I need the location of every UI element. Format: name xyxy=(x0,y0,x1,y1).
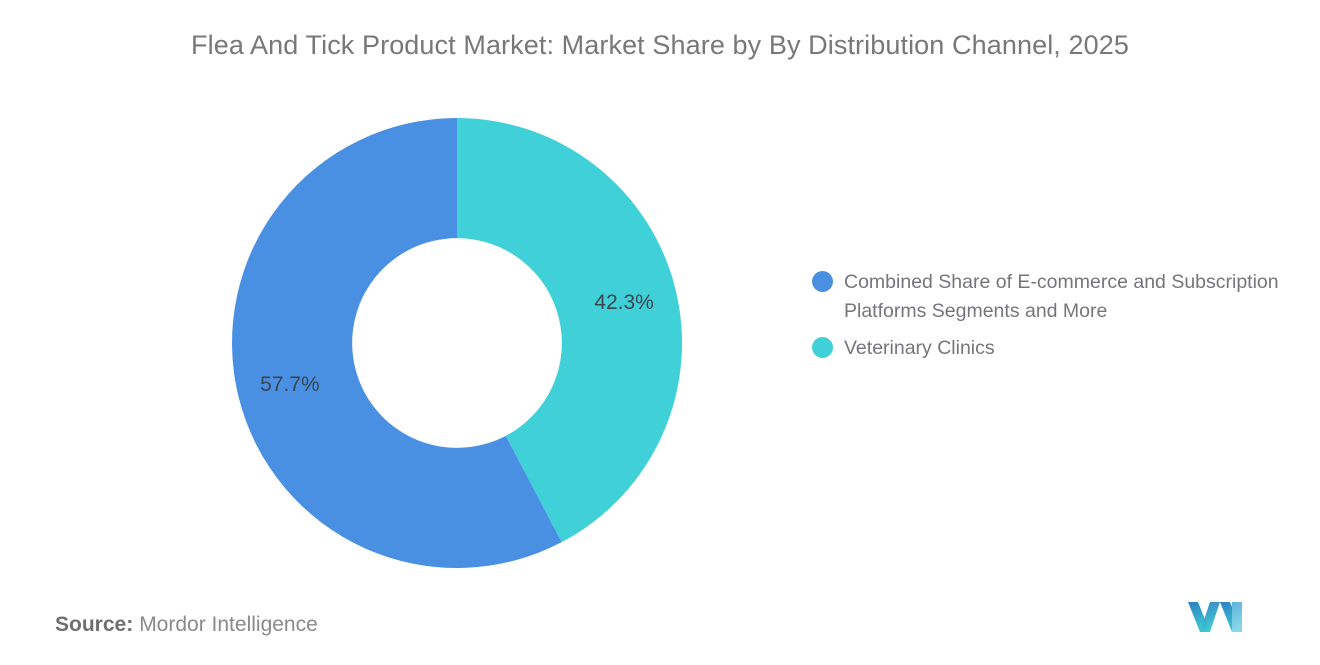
donut-chart: 57.7% 42.3% xyxy=(232,118,682,568)
legend-swatch-veterinary-clinics-icon xyxy=(812,337,833,358)
source-value: Mordor Intelligence xyxy=(139,613,318,636)
slice-label-combined-share: 57.7% xyxy=(260,373,320,396)
slice-label-veterinary-clinics: 42.3% xyxy=(594,291,654,314)
chart-legend: Combined Share of E-commerce and Subscri… xyxy=(812,268,1292,371)
source-attribution: Source:Mordor Intelligence xyxy=(55,613,318,637)
mordor-intelligence-logo-icon xyxy=(1186,598,1252,636)
logo-svg xyxy=(1186,598,1252,636)
page-title: Flea And Tick Product Market: Market Sha… xyxy=(0,30,1320,61)
legend-item-combined-share[interactable]: Combined Share of E-commerce and Subscri… xyxy=(812,268,1292,326)
legend-label-veterinary-clinics: Veterinary Clinics xyxy=(844,334,995,363)
donut-chart-svg: 57.7% 42.3% xyxy=(232,118,682,568)
legend-item-veterinary-clinics[interactable]: Veterinary Clinics xyxy=(812,334,1292,363)
legend-swatch-combined-share-icon xyxy=(812,271,833,292)
source-label: Source: xyxy=(55,613,133,636)
legend-label-combined-share: Combined Share of E-commerce and Subscri… xyxy=(844,268,1284,326)
